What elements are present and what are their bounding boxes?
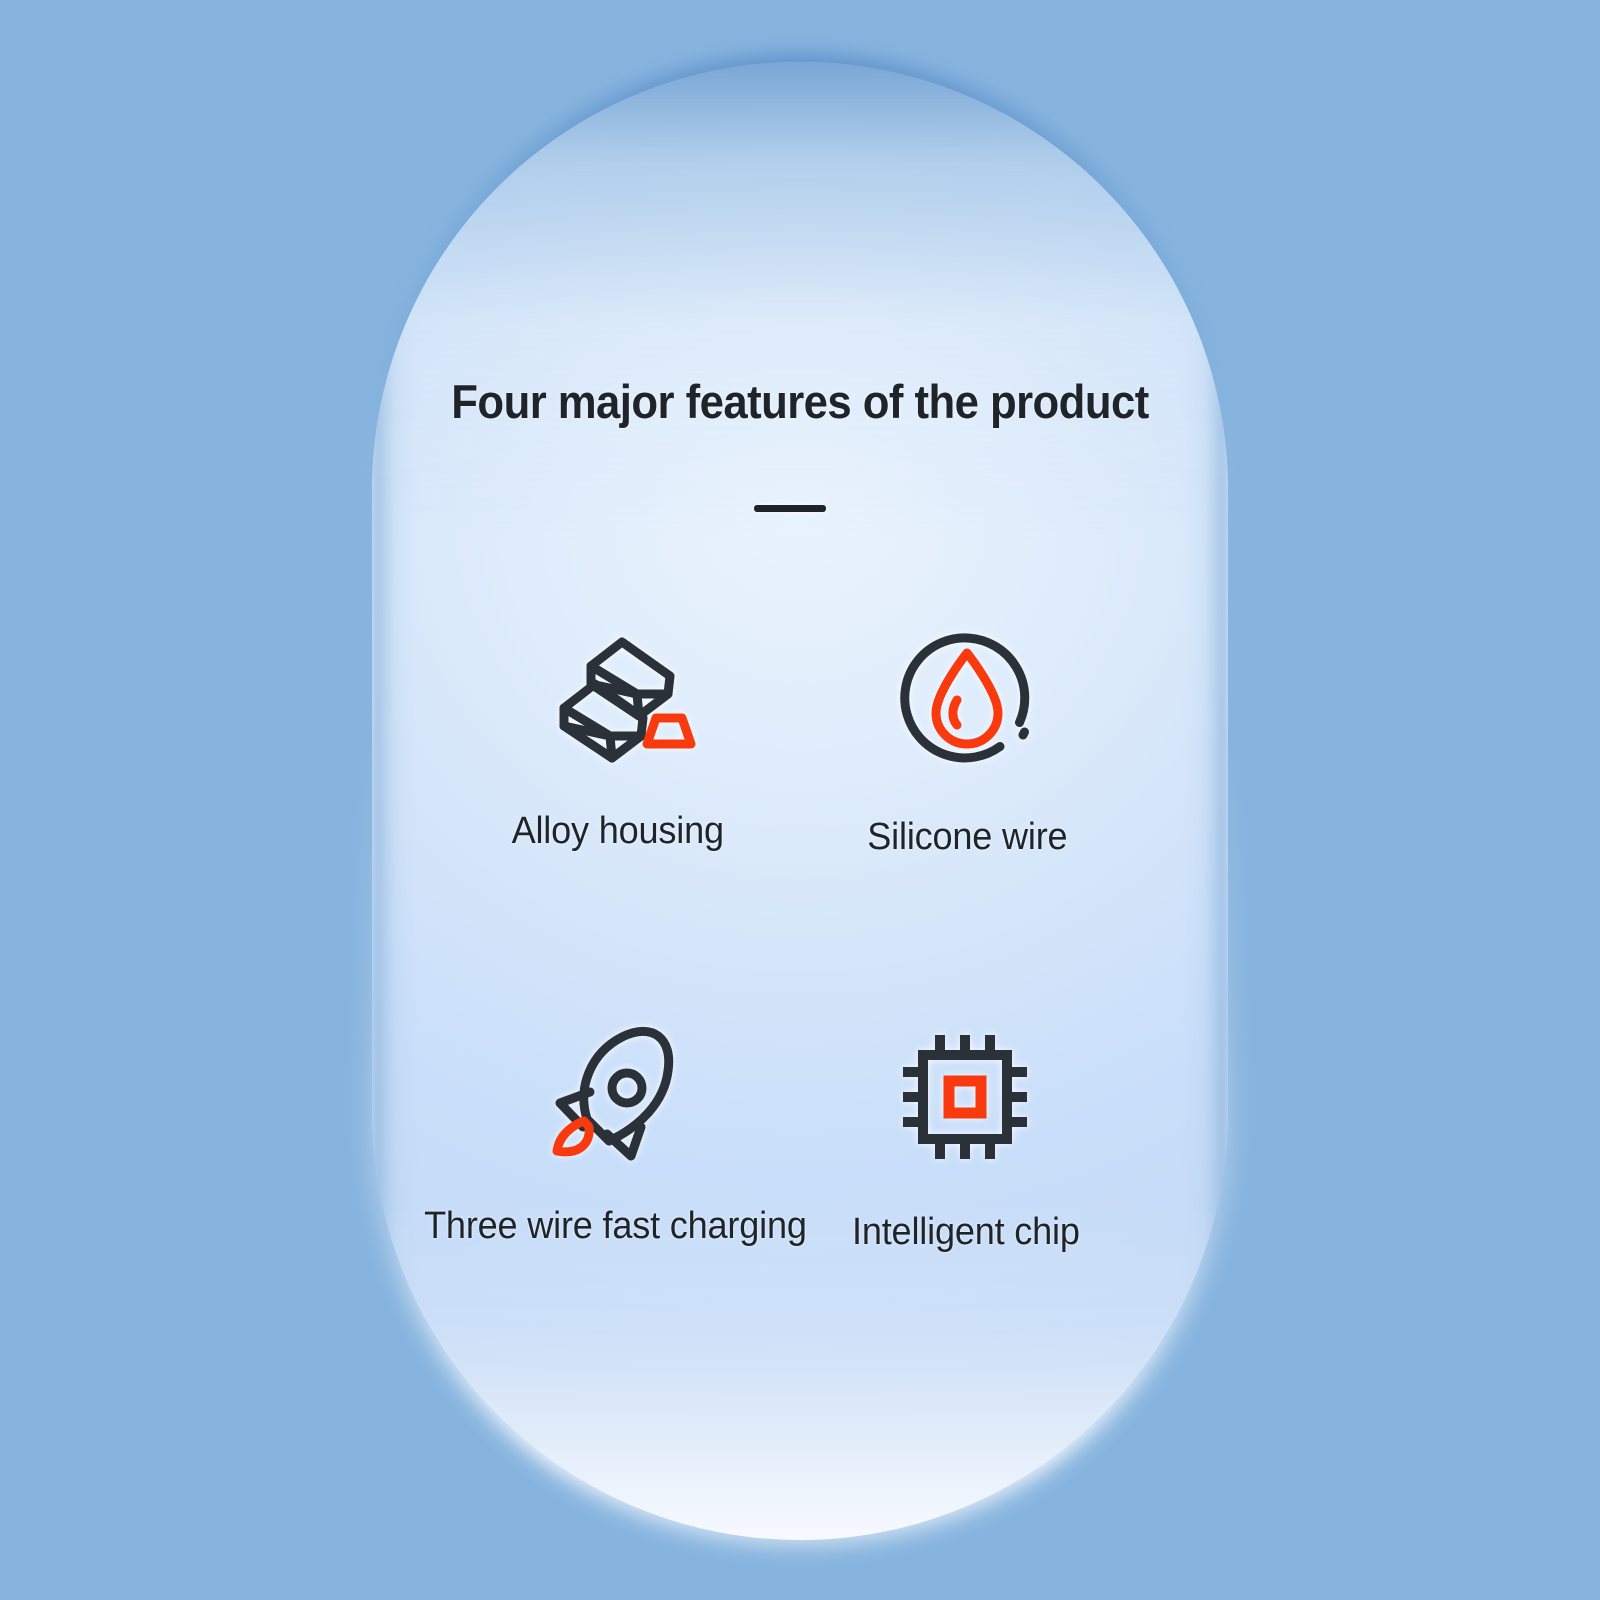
gold-bars-icon [529,608,705,784]
feature-item-intelligent-chip[interactable]: Intelligent chip [767,1009,1164,1254]
feature-label: Alloy housing [511,810,723,853]
feature-item-three-wire-fast-charging[interactable]: Three wire fast charging [414,1003,817,1248]
poster-stage: Four major features of the product [0,0,1600,1600]
feature-label: Silicone wire [867,816,1067,859]
feature-item-silicone-wire[interactable]: Silicone wire [769,614,1166,859]
feature-label: Three wire fast charging [424,1205,807,1248]
feature-item-alloy-housing[interactable]: Alloy housing [416,608,819,853]
page-title: Four major features of the product [56,374,1544,429]
cpu-chip-icon [877,1009,1053,1185]
water-drop-circle-icon [879,614,1055,790]
rocket-icon [527,1003,703,1179]
feature-grid: Alloy housing Silicone wire [400,608,1200,1244]
title-divider [754,505,826,512]
poster-content: Four major features of the product [0,0,1600,1600]
feature-label: Intelligent chip [852,1211,1080,1254]
